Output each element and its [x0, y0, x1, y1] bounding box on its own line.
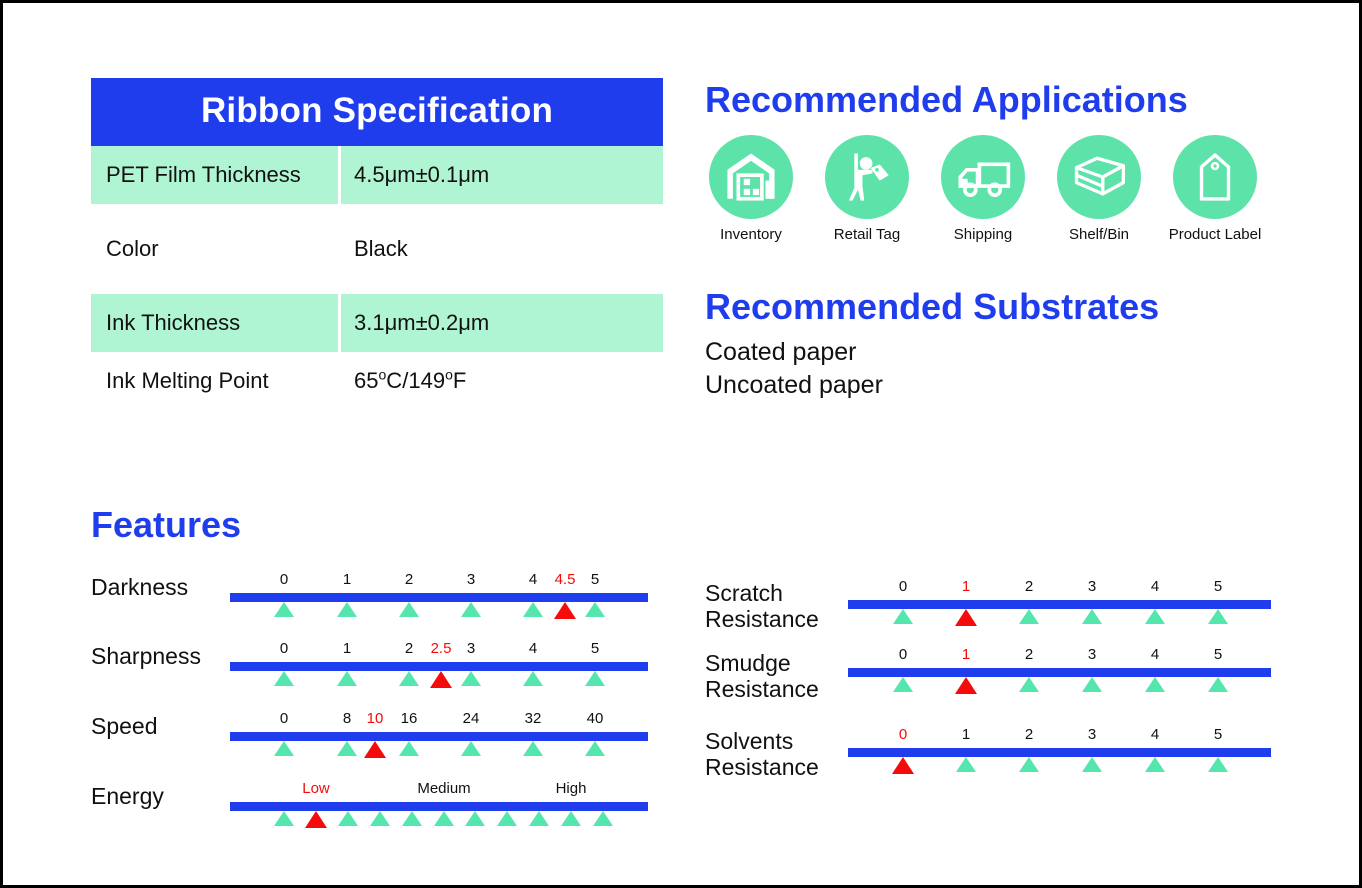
feature-tick-label: 1 [962, 726, 970, 743]
feature-marker[interactable] [893, 677, 913, 692]
list-item: Product Label [1169, 135, 1261, 243]
feature-marker[interactable] [585, 602, 605, 617]
feature-marker[interactable] [1208, 609, 1228, 624]
feature-marker[interactable] [337, 602, 357, 617]
feature-marker[interactable] [1145, 757, 1165, 772]
list-item: Shipping [937, 135, 1029, 243]
feature-tick-label: 40 [587, 710, 604, 727]
feature-tick-label: 1 [962, 646, 970, 663]
recommended-substrates-section: Recommended Substrates Coated paper Unco… [705, 288, 1265, 402]
feature-marker[interactable] [1082, 757, 1102, 772]
feature-tick-label: 4 [529, 640, 537, 657]
feature-tick-label: 4 [1151, 646, 1159, 663]
spec-row-value: 4.5μm±0.1μm [341, 162, 663, 188]
feature-tick-label: 0 [899, 646, 907, 663]
feature-tick-label: High [556, 780, 587, 797]
ribbon-specification-table: Ribbon Specification PET Film Thickness … [91, 78, 663, 410]
feature-tick-label: 0 [899, 726, 907, 743]
feature-scale-track [230, 662, 648, 671]
feature-marker[interactable] [523, 741, 543, 756]
feature-marker[interactable] [1082, 609, 1102, 624]
warehouse-inventory-icon [709, 135, 793, 219]
application-label: Product Label [1169, 226, 1262, 243]
feature-tick-label: 5 [1214, 578, 1222, 595]
feature-tick-label: 2.5 [431, 640, 452, 657]
spec-row-label: Color [91, 236, 341, 262]
feature-scale-label: Solvents Resistance [705, 729, 819, 781]
feature-tick-label: 32 [525, 710, 542, 727]
substrates-title: Recommended Substrates [705, 288, 1265, 326]
feature-marker[interactable] [497, 811, 517, 826]
recommended-applications-section: Recommended Applications Inventory [705, 81, 1285, 243]
application-label: Shipping [954, 226, 1012, 243]
spec-row-value: 3.1μm±0.2μm [341, 310, 663, 336]
feature-tick-label: 2 [1025, 646, 1033, 663]
feature-marker[interactable] [434, 811, 454, 826]
feature-marker[interactable] [465, 811, 485, 826]
feature-marker[interactable] [593, 811, 613, 826]
application-label: Shelf/Bin [1069, 226, 1129, 243]
feature-tick-label: 3 [467, 640, 475, 657]
feature-scale-track [230, 802, 648, 811]
feature-scale-label: Darkness [91, 575, 188, 601]
feature-tick-label: 1 [962, 578, 970, 595]
feature-tick-label: 2 [1025, 578, 1033, 595]
feature-tick-label: 3 [1088, 578, 1096, 595]
feature-marker[interactable] [337, 741, 357, 756]
feature-scale-label: Speed [91, 714, 158, 740]
feature-tick-label: 3 [467, 571, 475, 588]
substrate-item: Coated paper [705, 336, 1265, 369]
feature-marker[interactable] [274, 671, 294, 686]
feature-tick-label: 4 [529, 571, 537, 588]
feature-tick-label: 10 [367, 710, 384, 727]
feature-marker[interactable] [1208, 677, 1228, 692]
feature-scale-track [848, 668, 1271, 677]
feature-marker[interactable] [399, 671, 419, 686]
feature-marker[interactable] [523, 671, 543, 686]
feature-tick-label: 0 [280, 640, 288, 657]
feature-marker[interactable] [585, 741, 605, 756]
table-row: Color Black [91, 220, 663, 278]
feature-marker[interactable] [585, 671, 605, 686]
feature-marker[interactable] [956, 757, 976, 772]
feature-tick-label: 16 [401, 710, 418, 727]
feature-marker[interactable] [402, 811, 422, 826]
feature-marker[interactable] [1019, 757, 1039, 772]
feature-tick-label: Medium [417, 780, 470, 797]
feature-scale-track [848, 600, 1271, 609]
feature-marker[interactable] [1082, 677, 1102, 692]
shelf-bin-icon [1057, 135, 1141, 219]
feature-scale-track [230, 593, 648, 602]
spacer [91, 278, 663, 294]
feature-marker-selected[interactable] [554, 602, 576, 619]
feature-marker-selected[interactable] [892, 757, 914, 774]
feature-marker[interactable] [561, 811, 581, 826]
feature-marker-selected[interactable] [955, 677, 977, 694]
feature-marker[interactable] [337, 671, 357, 686]
feature-tick-label: 1 [343, 571, 351, 588]
spec-row-label: Ink Melting Point [91, 368, 341, 394]
list-item: Shelf/Bin [1053, 135, 1145, 243]
retail-tag-icon [825, 135, 909, 219]
feature-marker-selected[interactable] [364, 741, 386, 758]
feature-marker-selected[interactable] [955, 609, 977, 626]
feature-scale-label: Smudge Resistance [705, 651, 819, 703]
application-label: Inventory [720, 226, 782, 243]
feature-marker[interactable] [274, 811, 294, 826]
feature-tick-label: 1 [343, 640, 351, 657]
feature-marker[interactable] [461, 602, 481, 617]
feature-scale-label: Sharpness [91, 644, 201, 670]
feature-tick-label: 5 [1214, 646, 1222, 663]
feature-tick-label: 4 [1151, 726, 1159, 743]
feature-marker[interactable] [529, 811, 549, 826]
feature-marker[interactable] [461, 671, 481, 686]
feature-tick-label: 5 [591, 640, 599, 657]
spec-table-title: Ribbon Specification [91, 78, 663, 146]
feature-marker[interactable] [1145, 609, 1165, 624]
application-label: Retail Tag [834, 226, 900, 243]
feature-tick-label: 2 [405, 571, 413, 588]
feature-tick-label: Low [302, 780, 330, 797]
feature-marker[interactable] [1208, 757, 1228, 772]
spacer [91, 204, 663, 220]
feature-tick-label: 4.5 [555, 571, 576, 588]
feature-marker[interactable] [1145, 677, 1165, 692]
table-row: Ink Thickness 3.1μm±0.2μm [91, 294, 663, 352]
feature-tick-label: 3 [1088, 726, 1096, 743]
spec-row-value: 65oC/149oF [341, 368, 663, 394]
feature-scale-track [230, 732, 648, 741]
feature-scale-label: Energy [91, 784, 164, 810]
substrate-item: Uncoated paper [705, 369, 1265, 402]
feature-marker[interactable] [893, 609, 913, 624]
feature-tick-label: 2 [405, 640, 413, 657]
feature-scale-track [848, 748, 1271, 757]
feature-tick-label: 2 [1025, 726, 1033, 743]
feature-tick-label: 0 [280, 710, 288, 727]
table-row: PET Film Thickness 4.5μm±0.1μm [91, 146, 663, 204]
product-label-tag-icon [1173, 135, 1257, 219]
feature-tick-label: 4 [1151, 578, 1159, 595]
feature-tick-label: 8 [343, 710, 351, 727]
feature-marker[interactable] [1019, 677, 1039, 692]
spec-row-label: Ink Thickness [91, 294, 341, 352]
feature-marker-selected[interactable] [430, 671, 452, 688]
ribbon-spec-sheet: Ribbon Specification PET Film Thickness … [0, 0, 1362, 888]
feature-marker[interactable] [399, 602, 419, 617]
application-icon-list: Inventory Retail Tag [705, 135, 1285, 243]
feature-marker[interactable] [1019, 609, 1039, 624]
table-row: Ink Melting Point 65oC/149oF [91, 352, 663, 410]
feature-tick-label: 5 [1214, 726, 1222, 743]
feature-marker-selected[interactable] [305, 811, 327, 828]
list-item: Inventory [705, 135, 797, 243]
feature-tick-label: 0 [899, 578, 907, 595]
spec-row-label: PET Film Thickness [91, 146, 341, 204]
feature-marker[interactable] [461, 741, 481, 756]
feature-tick-label: 0 [280, 571, 288, 588]
feature-marker[interactable] [274, 741, 294, 756]
features-title: Features [91, 506, 241, 544]
shipping-truck-icon [941, 135, 1025, 219]
feature-tick-label: 5 [591, 571, 599, 588]
feature-marker[interactable] [523, 602, 543, 617]
applications-title: Recommended Applications [705, 81, 1285, 119]
feature-tick-label: 24 [463, 710, 480, 727]
feature-tick-label: 3 [1088, 646, 1096, 663]
feature-marker[interactable] [399, 741, 419, 756]
feature-marker[interactable] [274, 602, 294, 617]
list-item: Retail Tag [821, 135, 913, 243]
feature-marker[interactable] [338, 811, 358, 826]
feature-marker[interactable] [370, 811, 390, 826]
feature-scale-label: Scratch Resistance [705, 581, 819, 633]
spec-row-value: Black [341, 236, 663, 262]
